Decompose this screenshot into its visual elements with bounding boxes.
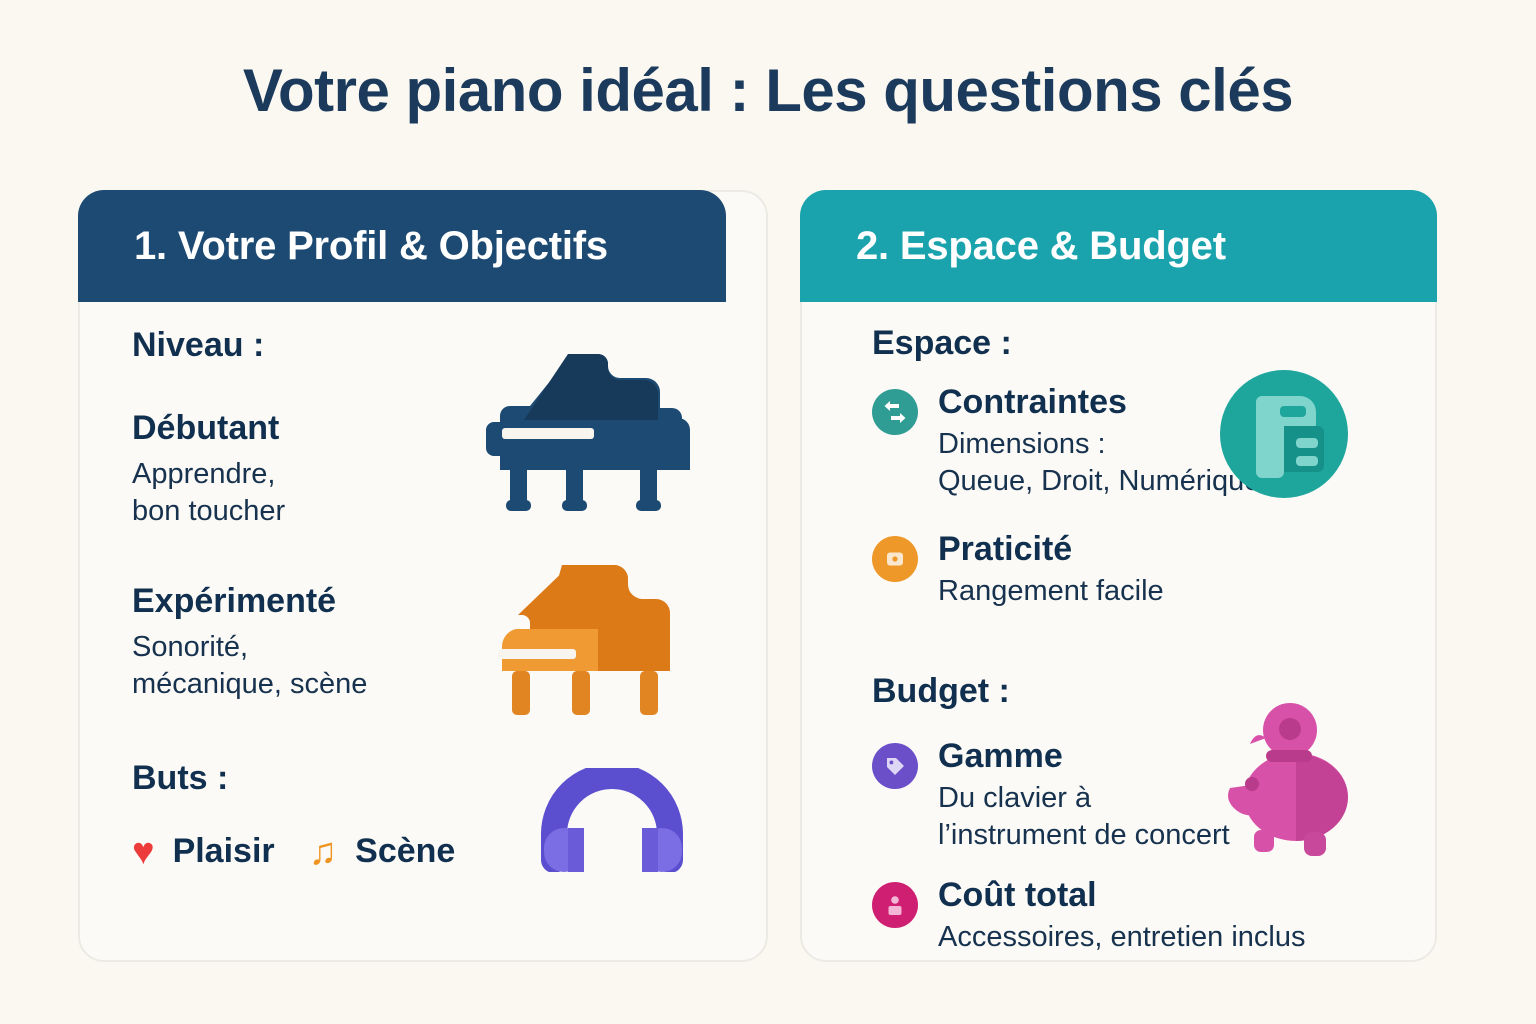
bullet-praticite: Praticité Rangement facile — [872, 530, 1342, 610]
page-title: Votre piano idéal : Les questions clés — [0, 56, 1536, 125]
card-espace-header: 2. Espace & Budget — [800, 190, 1437, 302]
item-debutant-title: Débutant — [132, 409, 492, 448]
card-profil-header: 1. Votre Profil & Objectifs — [78, 190, 726, 302]
buts-chip-plaisir-label: Plaisir — [173, 832, 275, 871]
exchange-arrows-icon — [872, 389, 918, 435]
section-niveau: Niveau : Débutant Apprendre, bon toucher — [132, 326, 492, 530]
price-tag-icon — [872, 743, 918, 789]
section-experimente: Expérimenté Sonorité, mécanique, scène — [132, 582, 512, 703]
buts-chip-scene-label: Scène — [355, 832, 455, 871]
section-buts: Buts : ♥ Plaisir ♫ Scène — [132, 759, 562, 871]
grand-piano-navy-illustration — [480, 352, 692, 520]
headphones-illustration — [538, 768, 686, 877]
music-note-icon: ♫ — [309, 833, 338, 871]
item-experimente-sub: Sonorité, mécanique, scène — [132, 629, 512, 703]
item-experimente-title: Expérimenté — [132, 582, 512, 621]
bullet-praticite-sub: Rangement facile — [938, 573, 1342, 610]
section-espace-title: Espace : — [872, 324, 1342, 363]
bullet-cout-total: Coût total Accessoires, entretien inclus — [872, 876, 1372, 956]
box-icon — [872, 536, 918, 582]
buts-chip-list: ♥ Plaisir ♫ Scène — [132, 832, 562, 871]
piggy-bank-illustration — [1222, 702, 1370, 872]
section-buts-title: Buts : — [132, 759, 562, 798]
bullet-praticite-title: Praticité — [938, 530, 1342, 569]
item-debutant-sub: Apprendre, bon toucher — [132, 456, 492, 530]
person-icon — [872, 882, 918, 928]
bullet-cout-total-sub: Accessoires, entretien inclus — [938, 919, 1372, 956]
grand-piano-orange-illustration — [480, 557, 692, 725]
bullet-cout-total-title: Coût total — [938, 876, 1372, 915]
section-niveau-title: Niveau : — [132, 326, 492, 365]
teal-keyboard-badge-illustration — [1218, 368, 1350, 505]
heart-icon: ♥ — [132, 833, 155, 871]
